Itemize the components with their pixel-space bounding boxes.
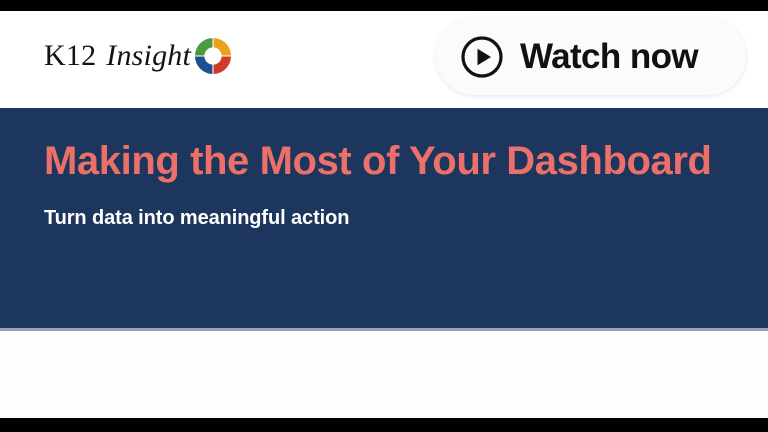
slide-footer-area (0, 331, 768, 418)
watch-now-label: Watch now (520, 39, 698, 74)
brand-name-k12: K12 (44, 39, 96, 73)
four-segment-donut-icon (191, 38, 231, 74)
brand-name-insight: Insight (106, 39, 191, 73)
watch-now-button[interactable]: Watch now (436, 18, 746, 95)
page-title: Making the Most of Your Dashboard (44, 141, 712, 181)
letterbox-bar-top (0, 0, 768, 11)
brand-logo-lockup: K12 Insight (44, 38, 231, 74)
play-circle-icon (460, 35, 504, 79)
page-subtitle: Turn data into meaningful action (44, 208, 349, 228)
video-thumbnail-frame: K12 Insight (0, 0, 768, 432)
letterbox-bar-bottom (0, 418, 768, 432)
hero-band: Making the Most of Your Dashboard Turn d… (0, 108, 768, 328)
